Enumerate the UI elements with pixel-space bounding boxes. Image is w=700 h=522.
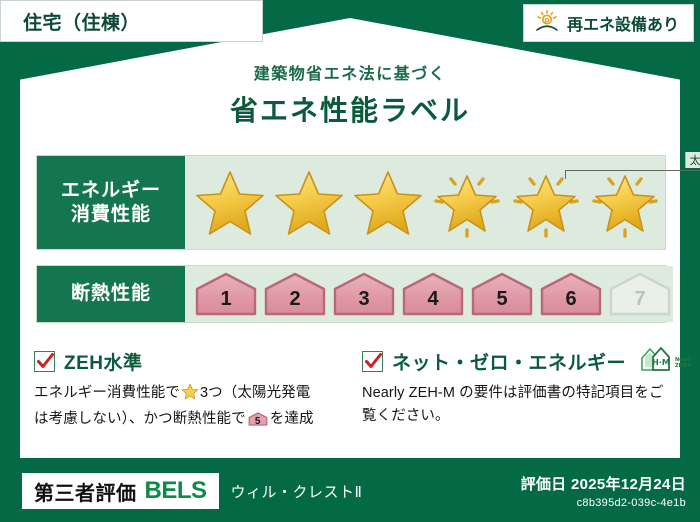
star-3 bbox=[349, 166, 426, 240]
star-6-solar bbox=[586, 166, 663, 240]
document-id: c8b395d2-039c-4e1b bbox=[521, 497, 686, 509]
star-sparkle-icon bbox=[509, 168, 583, 238]
energy-star-rating bbox=[185, 166, 663, 240]
star-icon bbox=[351, 168, 425, 238]
energy-performance-row: エネルギー 消費性能 太陽光発電(自家消費)分 bbox=[36, 155, 666, 250]
grade-badge-1: 1 bbox=[193, 271, 259, 317]
evaluation-date-label: 評価日 bbox=[521, 476, 567, 493]
footer-meta: 評価日 2025年12月24日 c8b395d2-039c-4e1b bbox=[521, 473, 686, 509]
net-zero-energy-description: Nearly ZEH-M の要件は評価書の特記項目をご覧ください。 bbox=[362, 382, 670, 429]
house-badge-icon bbox=[331, 271, 397, 317]
insulation-performance-label: 断熱性能 bbox=[37, 266, 185, 322]
grade-badge-6: 6 bbox=[538, 271, 604, 317]
house-badge-icon bbox=[538, 271, 604, 317]
bels-energy-label: 住宅（住棟） D 再エネ設備あり 建築物省エネ法に基づく 省エネ性能ラベル bbox=[0, 0, 700, 522]
title-block: 建築物省エネ法に基づく 省エネ性能ラベル bbox=[0, 60, 700, 129]
grade-badge-5: 5 bbox=[469, 271, 535, 317]
inline-star-icon bbox=[181, 388, 199, 404]
star-sparkle-icon bbox=[430, 168, 504, 238]
star-5-solar bbox=[507, 166, 584, 240]
star-icon bbox=[193, 168, 267, 238]
bels-en-label: BELS bbox=[145, 477, 207, 505]
sun-icon: D bbox=[534, 9, 560, 38]
zeh-desc-part2: は考慮しない）、かつ断熱性能で bbox=[34, 411, 246, 427]
house-type-label: 住宅（住棟） bbox=[23, 8, 140, 35]
star-1 bbox=[191, 166, 268, 240]
criteria-zeh-standard: ZEH水準 エネルギー消費性能で3つ（太陽光発電は考慮しない）、かつ断熱性能で5… bbox=[34, 348, 346, 436]
inline-grade-badge: 5 bbox=[248, 411, 268, 435]
star-2 bbox=[270, 166, 347, 240]
inline-grade-number: 5 bbox=[248, 414, 268, 430]
criteria-left-header: ZEH水準 bbox=[34, 348, 346, 374]
bels-jp-label: 第三者評価 bbox=[34, 477, 137, 506]
house-type-tag: 住宅（住棟） bbox=[0, 0, 263, 42]
house-badge-icon bbox=[262, 271, 328, 317]
star-sparkle-icon bbox=[588, 168, 662, 238]
criteria-net-zero-energy: ネット・ゼロ・エネルギー H·M Nearly ZEH-M Nearly ZEH… bbox=[362, 348, 670, 429]
project-name: ウィル・クレストⅡ bbox=[231, 481, 363, 502]
insulation-performance-row: 断熱性能 1 bbox=[36, 265, 666, 323]
energy-label-line1: エネルギー bbox=[61, 179, 161, 202]
check-icon bbox=[36, 352, 55, 371]
insulation-grade-scale: 1 2 3 4 bbox=[185, 271, 673, 317]
house-badge-icon-inactive bbox=[607, 271, 673, 317]
zeh-standard-checkbox[interactable] bbox=[34, 351, 55, 372]
insulation-label-text: 断熱性能 bbox=[71, 282, 151, 305]
star-4-solar bbox=[428, 166, 505, 240]
energy-label-line2: 消費性能 bbox=[71, 203, 151, 226]
check-icon bbox=[364, 352, 383, 371]
net-zero-energy-checkbox[interactable] bbox=[362, 351, 383, 372]
net-zero-energy-title: ネット・ゼロ・エネルギー bbox=[392, 348, 626, 375]
title-subtitle: 建築物省エネ法に基づく bbox=[0, 60, 700, 84]
insulation-performance-body: 1 2 3 4 bbox=[185, 266, 673, 322]
label-footer: 第三者評価 BELS ウィル・クレストⅡ 評価日 2025年12月24日 c8b… bbox=[0, 460, 700, 522]
zeh-desc-star-count: 3つ（太陽光発電 bbox=[200, 385, 310, 401]
zeh-desc-part3: を達成 bbox=[270, 411, 314, 427]
evaluation-date-line: 評価日 2025年12月24日 bbox=[521, 473, 686, 494]
grade-badge-3: 3 bbox=[331, 271, 397, 317]
energy-performance-label: エネルギー 消費性能 bbox=[37, 156, 185, 249]
zehm-inner-text: H·M bbox=[652, 358, 670, 367]
house-badge-icon bbox=[469, 271, 535, 317]
grade-badge-4: 4 bbox=[400, 271, 466, 317]
house-badge-icon bbox=[193, 271, 259, 317]
grade-badge-2: 2 bbox=[262, 271, 328, 317]
zeh-standard-title: ZEH水準 bbox=[64, 348, 143, 375]
zehm-caption-2: ZEH-M bbox=[675, 363, 691, 369]
grade-badge-7: 7 bbox=[607, 271, 673, 317]
criteria-right-header: ネット・ゼロ・エネルギー H·M Nearly ZEH-M bbox=[362, 348, 670, 374]
energy-performance-body: 太陽光発電(自家消費)分 bbox=[185, 156, 665, 249]
zeh-desc-part1: エネルギー消費性能で bbox=[34, 385, 180, 401]
zeh-standard-description: エネルギー消費性能で3つ（太陽光発電は考慮しない）、かつ断熱性能で5を達成 bbox=[34, 382, 346, 436]
bels-certification-mark: 第三者評価 BELS bbox=[22, 473, 219, 509]
star-icon bbox=[272, 168, 346, 238]
renewable-equipment-badge: D 再エネ設備あり bbox=[523, 4, 694, 42]
svg-text:D: D bbox=[544, 17, 549, 24]
page-title: 省エネ性能ラベル bbox=[0, 89, 700, 129]
house-badge-icon bbox=[400, 271, 466, 317]
nearly-zeh-m-logo: H·M Nearly ZEH-M bbox=[639, 344, 691, 379]
renewable-badge-label: 再エネ設備あり bbox=[567, 11, 679, 35]
evaluation-date-value: 2025年12月24日 bbox=[571, 476, 686, 493]
